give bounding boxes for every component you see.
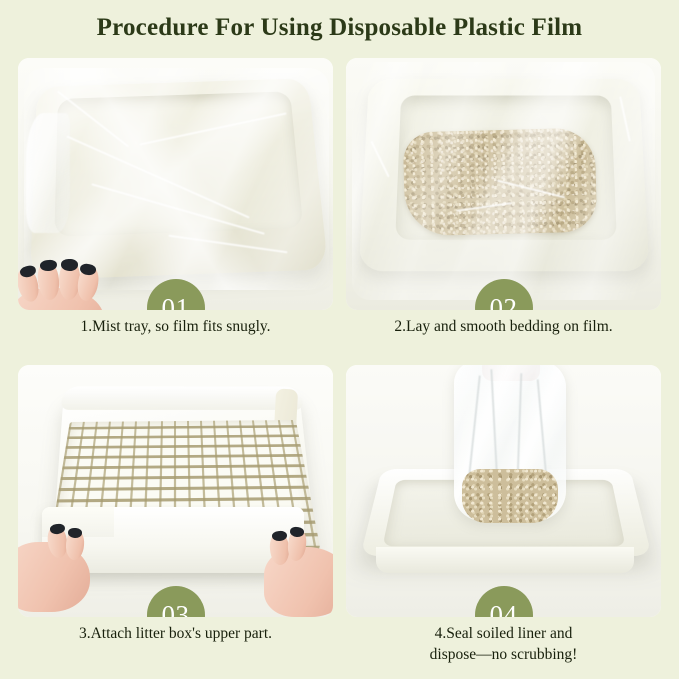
step-card-03: 03 3.Attach litter box's upper part. <box>18 365 333 617</box>
soiled-litter-inside-bag <box>462 469 558 523</box>
step-card-01: 01 1.Mist tray, so film fits snugly. <box>18 58 333 310</box>
infographic-page: Procedure For Using Disposable Plastic F… <box>0 0 679 679</box>
step-caption-03: 3.Attach litter box's upper part. <box>18 623 333 644</box>
page-title: Procedure For Using Disposable Plastic F… <box>0 12 679 44</box>
step-photo-04: 04 <box>346 365 661 617</box>
steps-grid: 01 1.Mist tray, so film fits snugly. 02 … <box>18 58 661 668</box>
step-caption-02: 2.Lay and smooth bedding on film. <box>346 316 661 337</box>
hand-left <box>18 260 112 310</box>
step-card-04: 04 4.Seal soiled liner and dispose—no sc… <box>346 365 661 617</box>
hand-left <box>18 520 104 617</box>
step-photo-01: 01 <box>18 58 333 310</box>
box-rim <box>61 386 304 409</box>
tray-front-edge <box>376 547 634 573</box>
step-caption-01: 1.Mist tray, so film fits snugly. <box>18 316 333 337</box>
step-caption-04: 4.Seal soiled liner and dispose—no scrub… <box>346 623 661 665</box>
hand-right <box>250 525 333 617</box>
step-card-02: 02 2.Lay and smooth bedding on film. <box>346 58 661 310</box>
step-photo-02: 02 <box>346 58 661 310</box>
step-photo-03: 03 <box>18 365 333 617</box>
